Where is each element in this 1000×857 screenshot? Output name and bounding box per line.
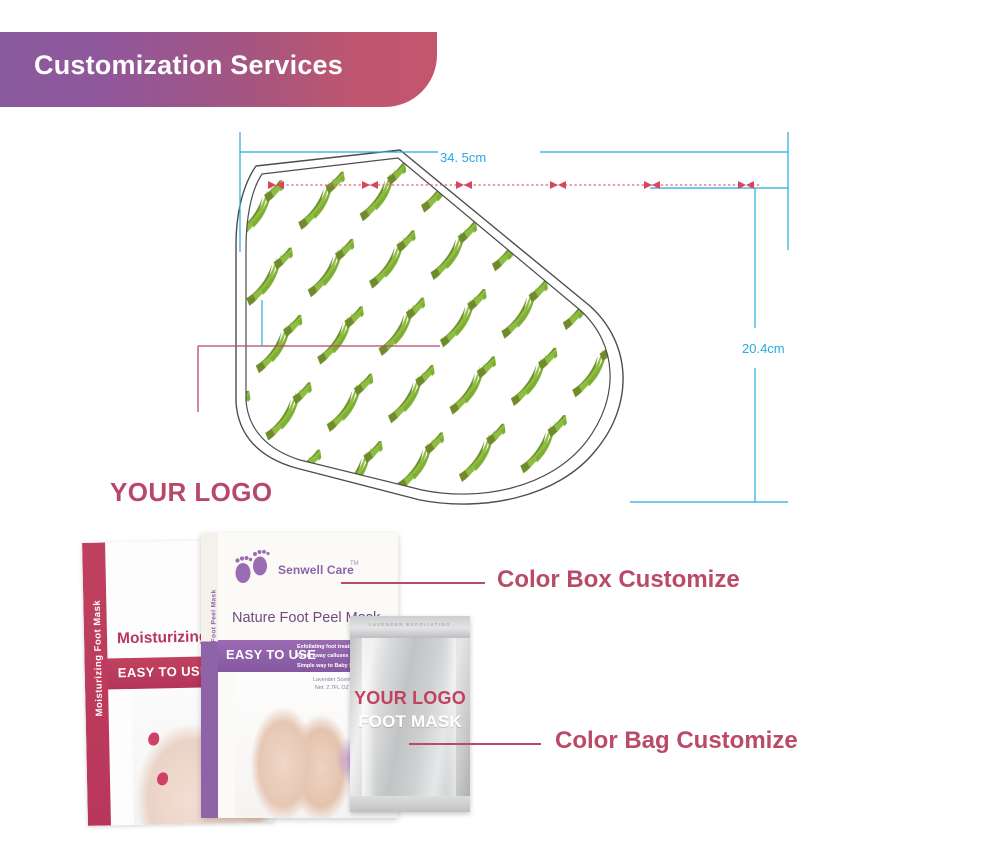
leaf-pattern-fill: [190, 130, 710, 530]
white-box-spine-text: Nature Foot Peel Mask: [211, 554, 218, 704]
color-box-callout-label: Color Box Customize: [497, 566, 740, 594]
height-dimension-label: 20.4cm: [742, 341, 785, 356]
color-box-leader-line: [341, 582, 485, 584]
net-weight-text: Net: 2.7FL OZ: [313, 684, 351, 692]
petal-decor: [157, 772, 168, 785]
bag-foot-mask-text: FOOT MASK: [350, 712, 470, 732]
color-bag-callout-label: Color Bag Customize: [555, 727, 798, 755]
scent-text: Lavender Scent: [313, 676, 351, 684]
bag-your-logo-text: YOUR LOGO: [350, 688, 470, 709]
your-logo-callout-label: YOUR LOGO: [110, 477, 273, 508]
product-foil-bag: LAVENDER EXFOLIATING YOUR LOGO FOOT MASK: [350, 616, 470, 812]
white-box-subinfo: Lavender Scent Net: 2.7FL OZ: [313, 676, 351, 692]
petal-decor: [148, 732, 159, 745]
bag-top-seal: [350, 616, 470, 638]
trademark-symbol: TM: [350, 561, 359, 567]
pink-box-band-text: EASY TO USE: [118, 663, 210, 680]
width-dimension-label: 34. 5cm: [440, 150, 486, 165]
bag-seal-text: LAVENDER EXFOLIATING: [350, 622, 470, 627]
page-title: Customization Services: [34, 50, 343, 81]
page-root: Customization Services: [0, 0, 1000, 857]
footprints-icon: [232, 549, 274, 589]
product-photo-group: SENWELL CARE Moisturizing EASY TO USE Mo…: [85, 533, 485, 833]
bag-bottom-seal: [350, 796, 470, 812]
senwell-brand-text: Senwell Care: [278, 563, 354, 577]
foot-mask-technical-drawing: [150, 130, 850, 530]
color-bag-leader-line: [409, 743, 541, 745]
